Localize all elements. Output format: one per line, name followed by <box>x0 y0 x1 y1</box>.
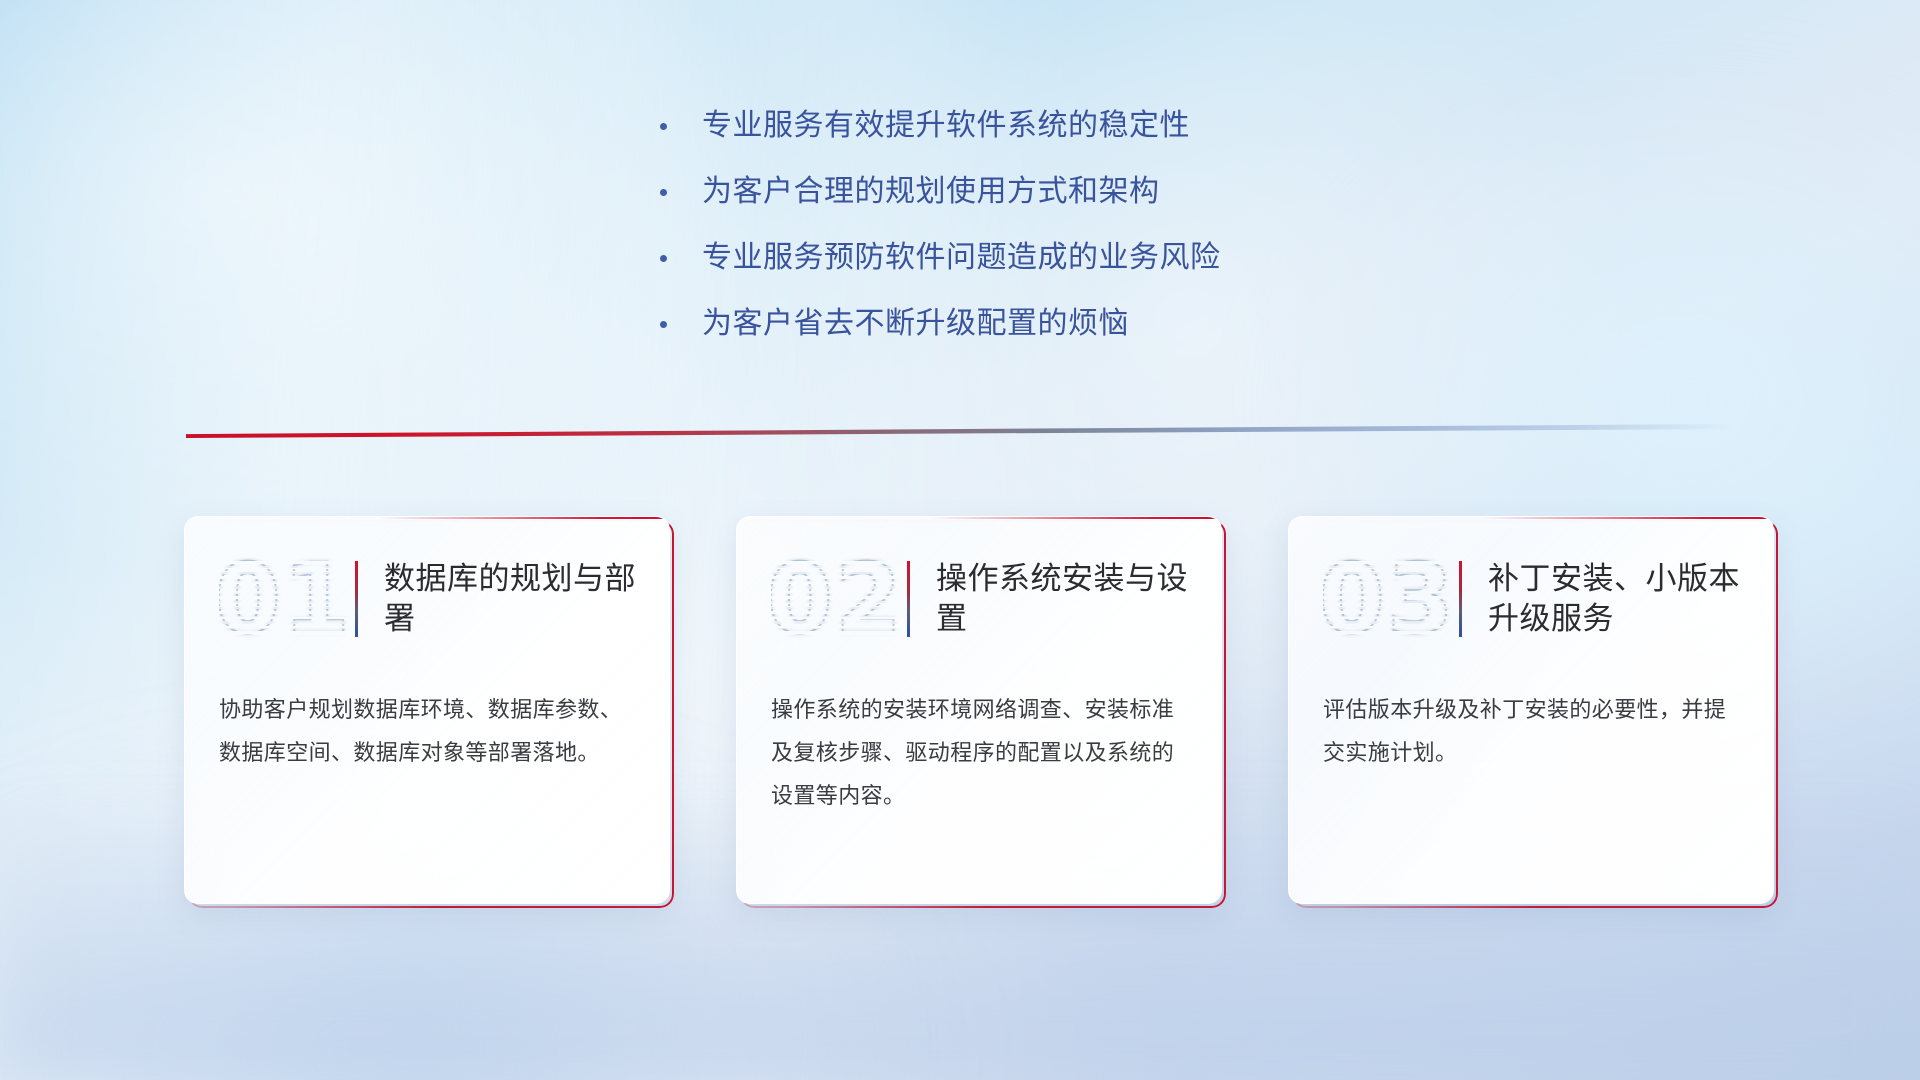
card-number-text: 01 <box>219 544 347 654</box>
card-panel: 02 02 操作系统安装与设置 操作系统的安装环境网络调查、安装标准及复核步骤、… <box>736 516 1222 904</box>
card-number-text: 03 <box>1323 544 1451 654</box>
service-card-01[interactable]: 01 01 数据库的规划与部署 协助客户规划数据库环境、数据库参数、数据库空间、… <box>184 516 674 908</box>
bullet-text: 为客户省去不断升级配置的烦恼 <box>702 306 1129 342</box>
bullet-text: 专业服务预防软件问题造成的业务风险 <box>702 240 1221 276</box>
section-divider <box>186 424 1732 438</box>
card-number: 02 02 <box>771 544 899 654</box>
card-title: 数据库的规划与部署 <box>384 559 669 638</box>
bullet-dot-icon <box>660 123 667 130</box>
bullet-dot-icon <box>660 321 667 328</box>
card-title: 补丁安装、小版本升级服务 <box>1488 559 1773 638</box>
card-number: 01 01 <box>219 544 347 654</box>
slide-canvas: 专业服务有效提升软件系统的稳定性 为客户合理的规划使用方式和架构 专业服务预防软… <box>0 0 1920 1080</box>
service-card-group: 01 01 数据库的规划与部署 协助客户规划数据库环境、数据库参数、数据库空间、… <box>184 516 1778 908</box>
list-item: 专业服务预防软件问题造成的业务风险 <box>660 240 1221 276</box>
divider-edge <box>186 424 1732 438</box>
card-body-text: 评估版本升级及补丁安装的必要性，并提交实施计划。 <box>1323 689 1741 775</box>
bullet-dot-icon <box>660 189 667 196</box>
bullet-text: 为客户合理的规划使用方式和架构 <box>702 174 1160 210</box>
card-header: 02 02 操作系统安装与设置 <box>737 537 1221 661</box>
card-accent-rule <box>907 561 910 637</box>
list-item: 为客户合理的规划使用方式和架构 <box>660 174 1221 210</box>
card-title: 操作系统安装与设置 <box>936 559 1221 638</box>
card-body-text: 协助客户规划数据库环境、数据库参数、数据库空间、数据库对象等部署落地。 <box>219 689 637 775</box>
card-number-text: 02 <box>771 544 899 654</box>
benefits-bullet-list: 专业服务有效提升软件系统的稳定性 为客户合理的规划使用方式和架构 专业服务预防软… <box>660 108 1221 342</box>
card-panel: 03 03 补丁安装、小版本升级服务 评估版本升级及补丁安装的必要性，并提交实施… <box>1288 516 1774 904</box>
list-item: 专业服务有效提升软件系统的稳定性 <box>660 108 1221 144</box>
card-panel: 01 01 数据库的规划与部署 协助客户规划数据库环境、数据库参数、数据库空间、… <box>184 516 670 904</box>
card-body-text: 操作系统的安装环境网络调查、安装标准及复核步骤、驱动程序的配置以及系统的设置等内… <box>771 689 1189 818</box>
card-header: 03 03 补丁安装、小版本升级服务 <box>1289 537 1773 661</box>
bullet-text: 专业服务有效提升软件系统的稳定性 <box>702 108 1190 144</box>
card-accent-rule <box>1459 561 1462 637</box>
service-card-02[interactable]: 02 02 操作系统安装与设置 操作系统的安装环境网络调查、安装标准及复核步骤、… <box>736 516 1226 908</box>
list-item: 为客户省去不断升级配置的烦恼 <box>660 306 1221 342</box>
service-card-03[interactable]: 03 03 补丁安装、小版本升级服务 评估版本升级及补丁安装的必要性，并提交实施… <box>1288 516 1778 908</box>
card-header: 01 01 数据库的规划与部署 <box>185 537 669 661</box>
card-number: 03 03 <box>1323 544 1451 654</box>
card-accent-rule <box>355 561 358 637</box>
bullet-dot-icon <box>660 255 667 262</box>
